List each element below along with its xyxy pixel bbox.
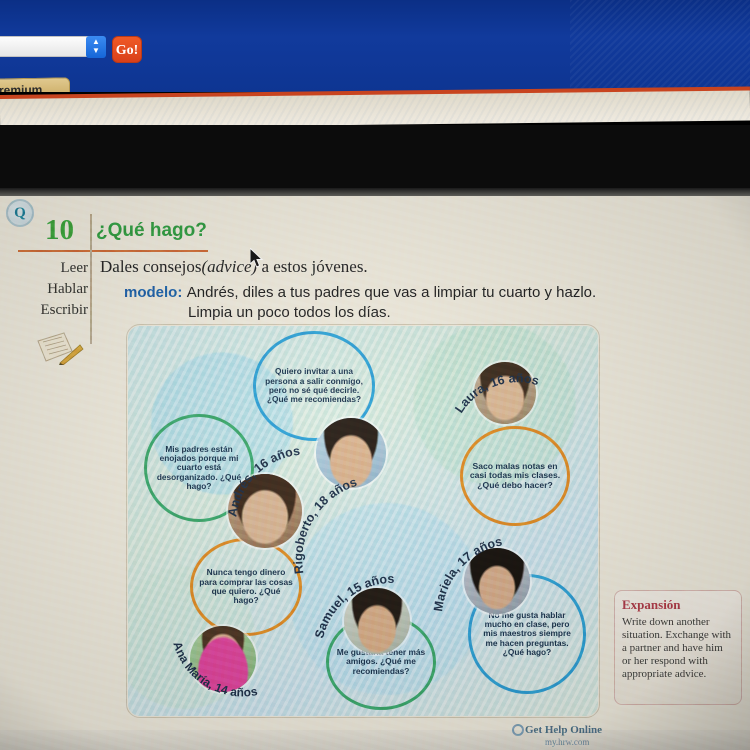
get-help-online-link[interactable]: Get Help Online	[525, 724, 602, 736]
skill-leer: Leer	[36, 258, 88, 279]
svg-text:Laura, 16 años: Laura, 16 años	[452, 371, 540, 415]
premium-tab[interactable]: remium	[0, 77, 70, 92]
instruction-text: Dales consejos(advice) a estos jóvenes.	[100, 257, 368, 277]
browser-chrome: ▲▼ Go! remium	[0, 0, 750, 92]
mouse-cursor-icon	[250, 248, 266, 270]
name-label-ana-maria: Ana María, 14 años	[170, 640, 258, 700]
textbook-page: Q 10 ¿Qué hago? Leer Hablar Escribir Dal…	[0, 196, 750, 750]
vertical-rule	[90, 214, 92, 344]
expansion-title: Expansión	[622, 597, 734, 613]
instruction-tail: a estos jóvenes.	[257, 257, 367, 276]
modelo-line-2: Limpia un poco todos los días.	[188, 304, 391, 321]
globe-icon	[512, 724, 524, 736]
name-labels-layer: Andrés, 16 años Rigoberto, 18 años Laura…	[128, 326, 598, 716]
chevron-updown-icon[interactable]: ▲▼	[86, 36, 106, 58]
instruction-main: Dales consejos	[100, 257, 202, 276]
modelo-line-1: Andrés, diles a tus padres que vas a lim…	[187, 284, 596, 301]
go-button[interactable]: Go!	[112, 36, 142, 63]
page-bottom-margin	[0, 730, 750, 750]
name-label-laura: Laura, 16 años	[452, 371, 540, 415]
expansion-body: Write down another situation. Exchange w…	[622, 616, 734, 681]
name-label-rigoberto: Rigoberto, 18 años	[291, 475, 359, 575]
header-rule	[18, 250, 208, 252]
skill-hablar: Hablar	[36, 279, 88, 300]
help-url-label: my.hrw.com	[545, 737, 589, 747]
exercise-title: ¿Qué hago?	[96, 220, 207, 242]
svg-text:Samuel, 15 años: Samuel, 15 años	[312, 572, 394, 640]
exercise-number: 10	[45, 214, 74, 247]
skills-list: Leer Hablar Escribir	[36, 258, 88, 321]
modelo-block: modelo: Andrés, diles a tus padres que v…	[124, 284, 596, 302]
pencil-paper-icon	[34, 329, 84, 365]
expansion-box: Expansión Write down another situation. …	[614, 590, 742, 705]
instruction-italic: (advice)	[202, 257, 258, 276]
illustration-panel: Quiero invitar a una persona a salir con…	[128, 326, 598, 716]
q-badge-exercise[interactable]: Q	[6, 199, 34, 227]
name-label-mariela: Mariela, 17 años	[431, 534, 503, 612]
svg-text:Mariela, 17 años: Mariela, 17 años	[431, 534, 503, 612]
svg-text:Ana María, 14 años: Ana María, 14 años	[170, 640, 258, 700]
screenshot-root: ▲▼ Go! remium Go to Page → Q 10 ¿Qué hag…	[0, 0, 750, 750]
name-label-samuel: Samuel, 15 años	[312, 572, 394, 640]
pdf-viewer-toolbar: Go to Page →	[0, 125, 750, 197]
svg-text:Rigoberto, 18 años: Rigoberto, 18 años	[291, 475, 359, 575]
svg-text:Andrés, 16 años: Andrés, 16 años	[225, 444, 300, 518]
url-input[interactable]	[0, 36, 100, 57]
name-label-andres: Andrés, 16 años	[225, 444, 300, 518]
modelo-label: modelo:	[124, 284, 182, 301]
skill-escribir: Escribir	[36, 300, 88, 321]
